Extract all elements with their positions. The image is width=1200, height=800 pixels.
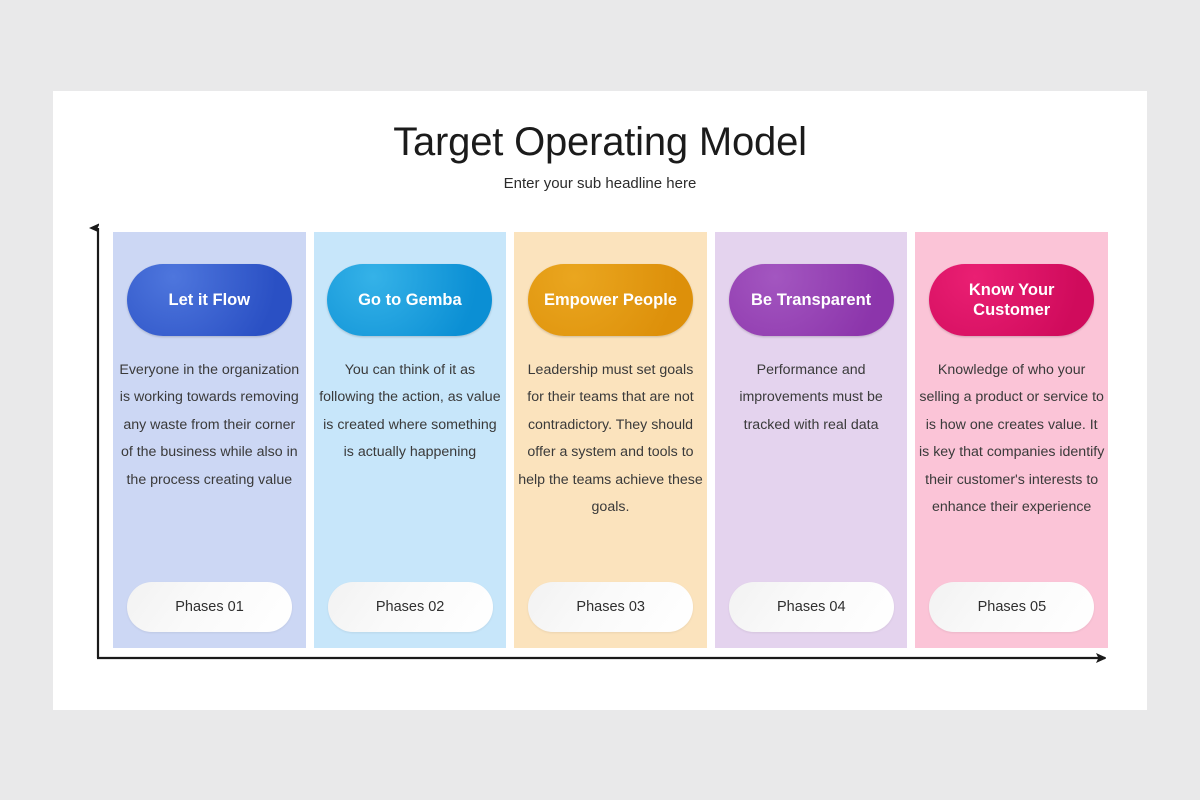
page-title: Target Operating Model xyxy=(53,120,1147,164)
phase-description-go-to-gemba: You can think of it as following the act… xyxy=(317,357,503,467)
slide-canvas: Target Operating Model Enter your sub he… xyxy=(0,0,1200,800)
phase-label-pill-empower-people[interactable]: Phases 03 xyxy=(528,582,693,632)
phase-heading-button-go-to-gemba[interactable]: Go to Gemba xyxy=(327,264,492,336)
phase-columns: Let it FlowEveryone in the organization … xyxy=(113,232,1108,648)
phase-label-pill-know-your-customer[interactable]: Phases 05 xyxy=(929,582,1094,632)
phase-label-pill-go-to-gemba[interactable]: Phases 02 xyxy=(328,582,493,632)
phase-label-pill-let-it-flow[interactable]: Phases 01 xyxy=(127,582,292,632)
phase-heading-button-empower-people[interactable]: Empower People xyxy=(528,264,693,336)
phase-label-pill-be-transparent[interactable]: Phases 04 xyxy=(729,582,894,632)
phase-description-know-your-customer: Knowledge of who your selling a product … xyxy=(919,357,1105,521)
phase-heading-button-be-transparent[interactable]: Be Transparent xyxy=(729,264,894,336)
page-subtitle: Enter your sub headline here xyxy=(53,175,1147,192)
phase-column-go-to-gemba: Go to GembaYou can think of it as follow… xyxy=(314,232,507,648)
phase-column-know-your-customer: Know Your CustomerKnowledge of who your … xyxy=(915,232,1108,648)
phase-description-empower-people: Leadership must set goals for their team… xyxy=(517,357,703,521)
phase-description-be-transparent: Performance and improvements must be tra… xyxy=(718,357,904,439)
phase-heading-button-let-it-flow[interactable]: Let it Flow xyxy=(127,264,292,336)
phase-column-be-transparent: Be TransparentPerformance and improvemen… xyxy=(715,232,908,648)
phase-description-let-it-flow: Everyone in the organization is working … xyxy=(116,357,302,494)
phase-heading-button-know-your-customer[interactable]: Know Your Customer xyxy=(929,264,1094,336)
phase-column-let-it-flow: Let it FlowEveryone in the organization … xyxy=(113,232,306,648)
phase-column-empower-people: Empower PeopleLeadership must set goals … xyxy=(514,232,707,648)
